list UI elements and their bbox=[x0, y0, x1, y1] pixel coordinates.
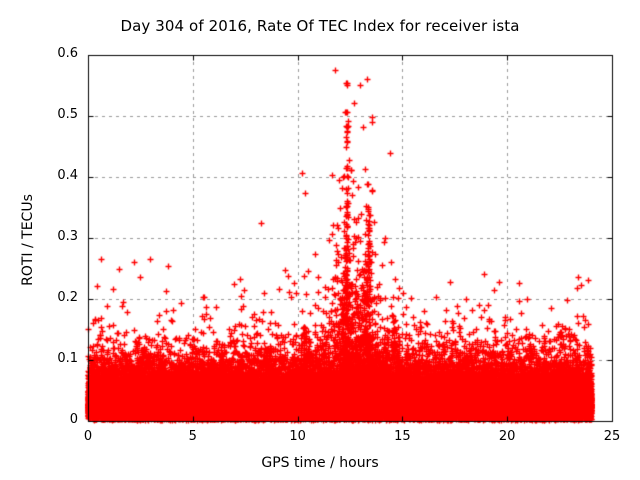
x-axis-title: GPS time / hours bbox=[0, 455, 640, 471]
chart-figure: Day 304 of 2016, Rate Of TEC Index for r… bbox=[0, 0, 640, 480]
y-tick-label: 0.3 bbox=[18, 229, 78, 244]
x-tick-label: 20 bbox=[477, 429, 537, 444]
x-tick-label: 25 bbox=[582, 429, 640, 444]
scatter-plot-canvas bbox=[0, 0, 640, 480]
y-tick-label: 0.1 bbox=[18, 351, 78, 366]
y-tick-label: 0.2 bbox=[18, 290, 78, 305]
x-tick-label: 10 bbox=[268, 429, 328, 444]
x-tick-label: 0 bbox=[58, 429, 118, 444]
x-tick-label: 15 bbox=[372, 429, 432, 444]
y-tick-label: 0 bbox=[18, 412, 78, 427]
x-tick-label: 5 bbox=[163, 429, 223, 444]
y-tick-label: 0.6 bbox=[18, 46, 78, 61]
chart-title: Day 304 of 2016, Rate Of TEC Index for r… bbox=[0, 17, 640, 35]
y-tick-label: 0.5 bbox=[18, 107, 78, 122]
y-tick-label: 0.4 bbox=[18, 168, 78, 183]
